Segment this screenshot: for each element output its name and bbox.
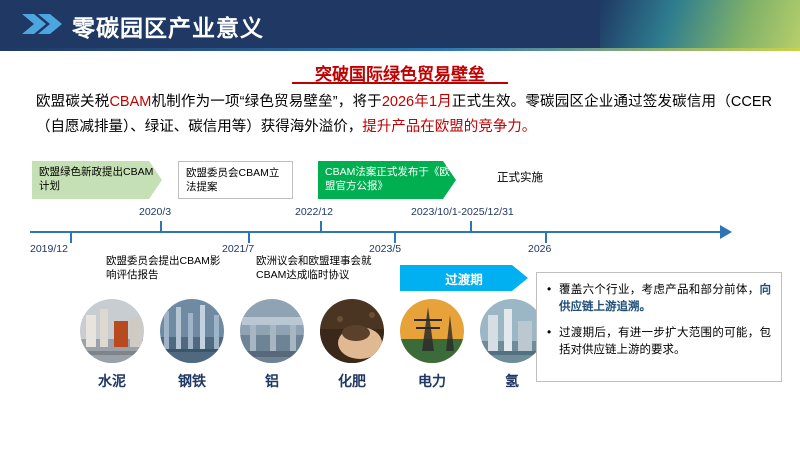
industry-label-fertilizer: 化肥: [318, 371, 386, 391]
section-title-underline: [292, 82, 508, 84]
paragraph-highlight-cbam: CBAM: [109, 94, 151, 110]
timeline-tick: [248, 232, 250, 243]
timeline-tick: [470, 221, 472, 232]
double-chevron-right-icon: [22, 14, 66, 34]
timeline-tick: [70, 232, 72, 243]
paragraph-part-2: 机制作为一项“绿色贸易壁垒”，将于: [151, 94, 382, 110]
industry-label-power: 电力: [398, 371, 466, 391]
header-underline: [0, 48, 800, 51]
timeline-event-implementation: 正式实施: [490, 167, 600, 187]
timeline-arrow-head: [720, 225, 732, 239]
steel-mill-photo: [158, 297, 226, 365]
aluminium-plant-photo: [238, 297, 306, 365]
timeline-tick: [545, 232, 547, 243]
timeline-event-provisional-agreement: 欧洲议会和欧盟理事会就CBAM达成临时协议: [256, 255, 378, 282]
timeline-date-2020-3: 2020/3: [139, 206, 171, 218]
timeline-date-transition-range: 2023/10/1-2025/12/31: [411, 206, 514, 218]
timeline-axis: [30, 231, 722, 233]
industry-item-cement: 水泥: [78, 297, 146, 391]
page-title: 零碳园区产业意义: [72, 9, 264, 43]
page-header: 零碳园区产业意义: [0, 0, 800, 48]
industry-label-cement: 水泥: [78, 371, 146, 391]
timeline-tick: [394, 232, 396, 243]
paragraph-highlight-date: 2026年1月: [382, 94, 452, 110]
industry-item-aluminium: 铝: [238, 297, 306, 391]
fertilizer-soil-hand-photo: [318, 297, 386, 365]
note-item: 过渡期后，有进一步扩大范围的可能，包括对供应链上游的要求。: [547, 325, 771, 359]
timeline-event-official-journal: CBAM法案正式发布于《欧盟官方公报》: [318, 161, 456, 199]
industry-label-steel: 钢铁: [158, 371, 226, 391]
note-item: 覆盖六个行业，考虑产品和部分前体，向供应链上游追溯。: [547, 282, 771, 316]
timeline-event-impact-report: 欧盟委员会提出CBAM影响评估报告: [106, 255, 224, 282]
power-lines-photo: [398, 297, 466, 365]
timeline-date-2022-12: 2022/12: [295, 206, 333, 218]
timeline-date-2023-5: 2023/5: [369, 243, 401, 255]
paragraph-highlight-conclusion: 提升产品在欧盟的竞争力。: [362, 119, 536, 135]
notes-panel: 覆盖六个行业，考虑产品和部分前体，向供应链上游追溯。 过渡期后，有进一步扩大范围…: [536, 272, 782, 382]
note-text-1: 覆盖六个行业，考虑产品和部分前体，: [559, 284, 760, 296]
timeline-tick: [160, 221, 162, 232]
industry-label-aluminium: 铝: [238, 371, 306, 391]
timeline-date-2019-12: 2019/12: [30, 243, 68, 255]
timeline-event-green-deal: 欧盟绿色新政提出CBAM计划: [32, 161, 162, 199]
cement-plant-photo: [78, 297, 146, 365]
industry-item-fertilizer: 化肥: [318, 297, 386, 391]
intro-paragraph: 欧盟碳关税CBAM机制作为一项“绿色贸易壁垒”，将于2026年1月正式生效。零碳…: [36, 90, 772, 140]
timeline-tick: [320, 221, 322, 232]
note-text-2: 过渡期后，有进一步扩大范围的可能，包括对供应链上游的要求。: [559, 327, 771, 356]
timeline-date-2026: 2026: [528, 243, 551, 255]
header-accent-gradient: [600, 0, 800, 48]
timeline-event-legislation: 欧盟委员会CBAM立法提案: [178, 161, 293, 199]
industry-item-power: 电力: [398, 297, 466, 391]
industry-item-steel: 钢铁: [158, 297, 226, 391]
timeline-transition-period-banner: 过渡期: [400, 265, 528, 291]
paragraph-part-1: 欧盟碳关税: [36, 94, 109, 110]
timeline-date-2021-7: 2021/7: [222, 243, 254, 255]
